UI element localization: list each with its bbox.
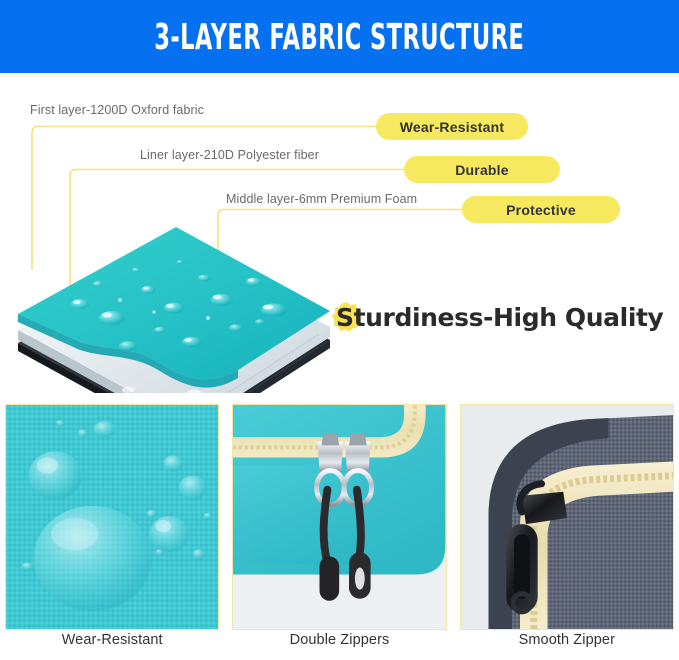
- panel-wear-resistant: [5, 404, 219, 630]
- sturdiness-headline: Sturdiness-High Quality: [336, 297, 663, 337]
- badge-protective: Protective: [462, 196, 620, 223]
- panel-captions: Wear-Resistant Double Zippers Smooth Zip…: [0, 632, 679, 660]
- panel-double-zippers: [232, 404, 446, 630]
- panel-smooth-zipper: [460, 404, 674, 630]
- caption-smooth-zipper: Smooth Zipper: [460, 632, 674, 660]
- caption-double-zippers: Double Zippers: [232, 632, 446, 660]
- layer-label-liner: Liner layer-210D Polyester fiber: [140, 148, 319, 162]
- fabric-structure-diagram: First layer-1200D Oxford fabric Liner la…: [0, 73, 679, 393]
- fabric-swatch-image: [8, 218, 338, 393]
- page-title: 3-LAYER FABRIC STRUCTURE: [154, 16, 524, 57]
- badge-wear-resistant: Wear-Resistant: [376, 113, 528, 140]
- header-banner: 3-LAYER FABRIC STRUCTURE: [0, 0, 679, 73]
- badge-durable: Durable: [404, 156, 560, 183]
- feature-photo-panels: [0, 404, 679, 630]
- sturdiness-headline-text: Sturdiness-High Quality: [336, 303, 663, 332]
- layer-label-first: First layer-1200D Oxford fabric: [30, 103, 204, 117]
- layer-label-middle: Middle layer-6mm Premium Foam: [226, 192, 417, 206]
- caption-wear-resistant: Wear-Resistant: [5, 632, 219, 660]
